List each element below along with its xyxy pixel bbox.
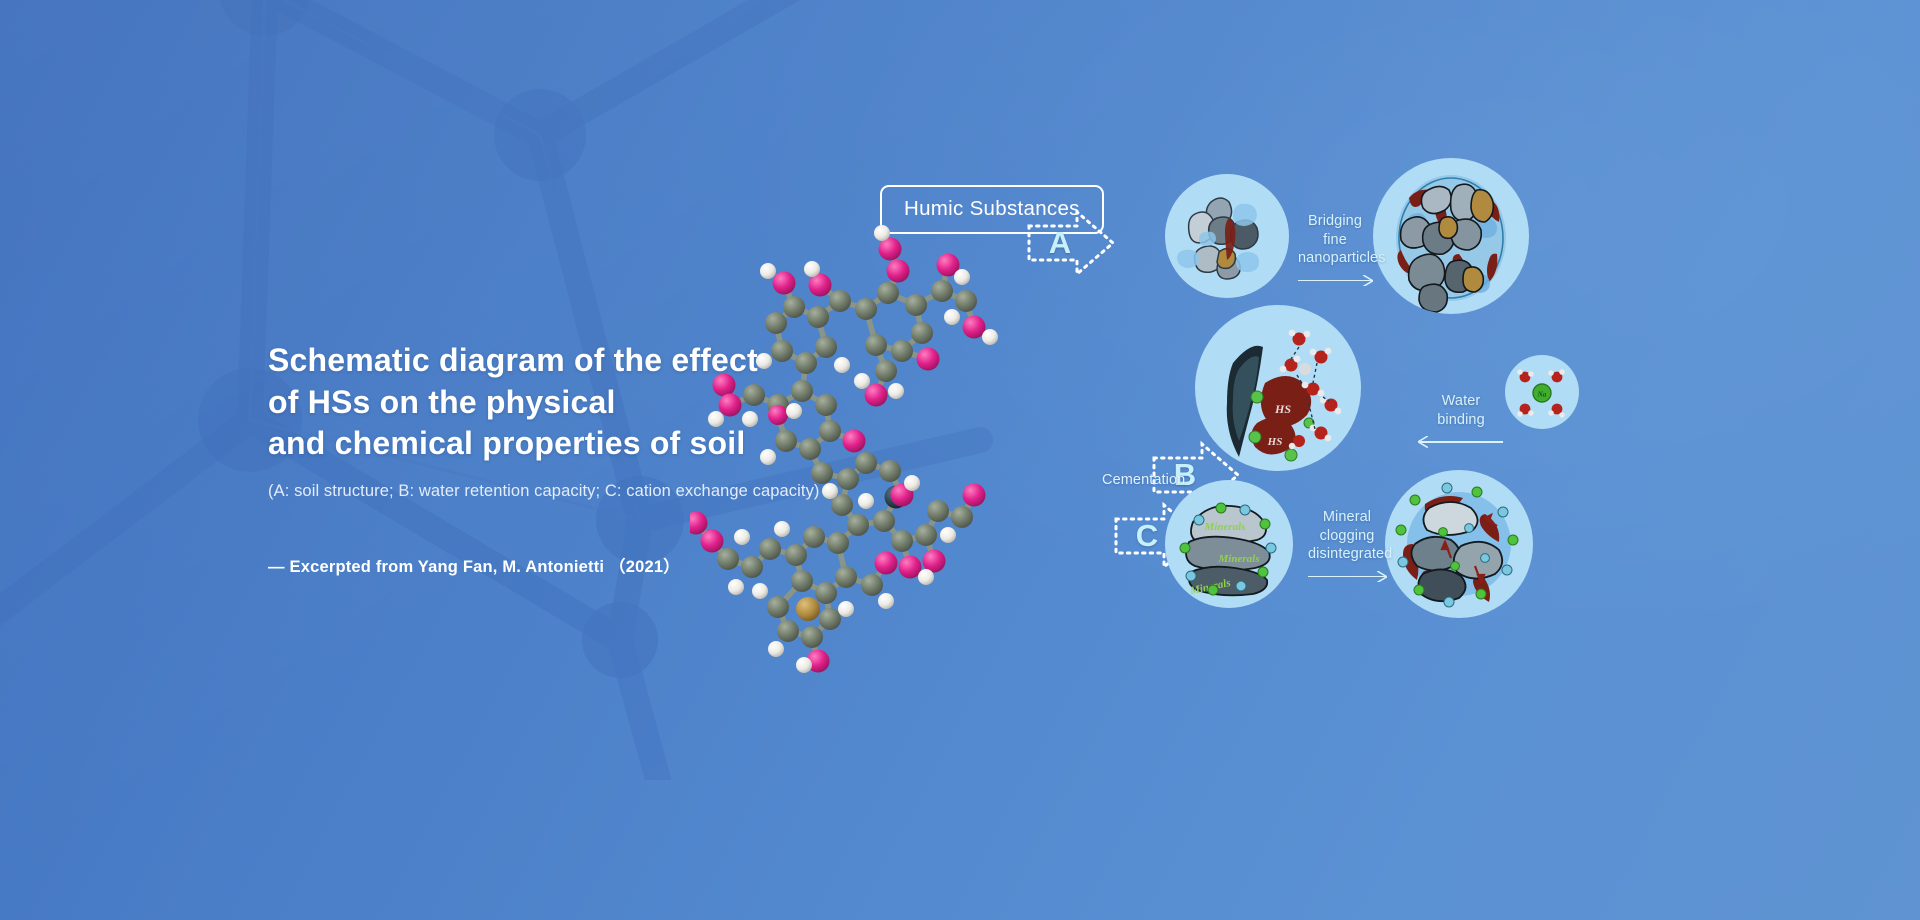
hs-tag-2: HS [1267,436,1283,448]
connector-b: Water binding [1419,392,1503,449]
circle-bound-soil-aggregate [1373,158,1529,314]
connector-a-arrow [1298,274,1372,288]
schematic-diagram: Humic Substances [820,120,1880,820]
circle-hydrated-cation: Na [1505,355,1579,429]
humic-substance-molecule-icon [690,205,1050,695]
arrowhead-right-icon [1377,571,1387,583]
arrowhead-left-icon [1418,436,1428,448]
connector-c-label: Mineral clogging disintegrated [1308,508,1386,564]
minerals-tag-2: Minerals [1218,553,1260,565]
cation-tag: Na [1537,390,1547,399]
connector-b-label: Water binding [1419,392,1503,429]
circle-humic-substance-water: HS HS [1195,305,1361,471]
hydrated-cation-icon: Na [1505,355,1579,429]
connector-c: Mineral clogging disintegrated [1308,508,1386,584]
circle-mineral-cemented-aggregate: Minerals Minerals Minerals [1165,480,1293,608]
loose-soil-particles-icon [1165,174,1289,298]
connector-a-label: Bridging fine nanoparticles [1298,212,1372,268]
circle-loose-soil-particles [1165,174,1289,298]
step-arrow-a: A [1025,206,1117,280]
cementation-label: Cementation [1102,472,1185,488]
connector-c-arrow [1308,570,1386,584]
connector-b-arrow [1419,435,1503,449]
hs-tag-1: HS [1274,402,1291,416]
arrowhead-right-icon [1363,275,1373,287]
mineral-cemented-aggregate-icon: Minerals Minerals Minerals [1165,480,1293,608]
minerals-tag-1: Minerals [1204,521,1246,533]
sulfur-atom [796,597,820,621]
hs-water-binding-icon: HS HS [1195,305,1361,471]
connector-a: Bridging fine nanoparticles [1298,212,1372,288]
step-letter-a: A [1025,206,1117,280]
circle-disintegrated-aggregate [1385,470,1533,618]
bound-soil-aggregate-icon [1373,158,1529,314]
disintegrated-aggregate-icon [1385,470,1533,618]
